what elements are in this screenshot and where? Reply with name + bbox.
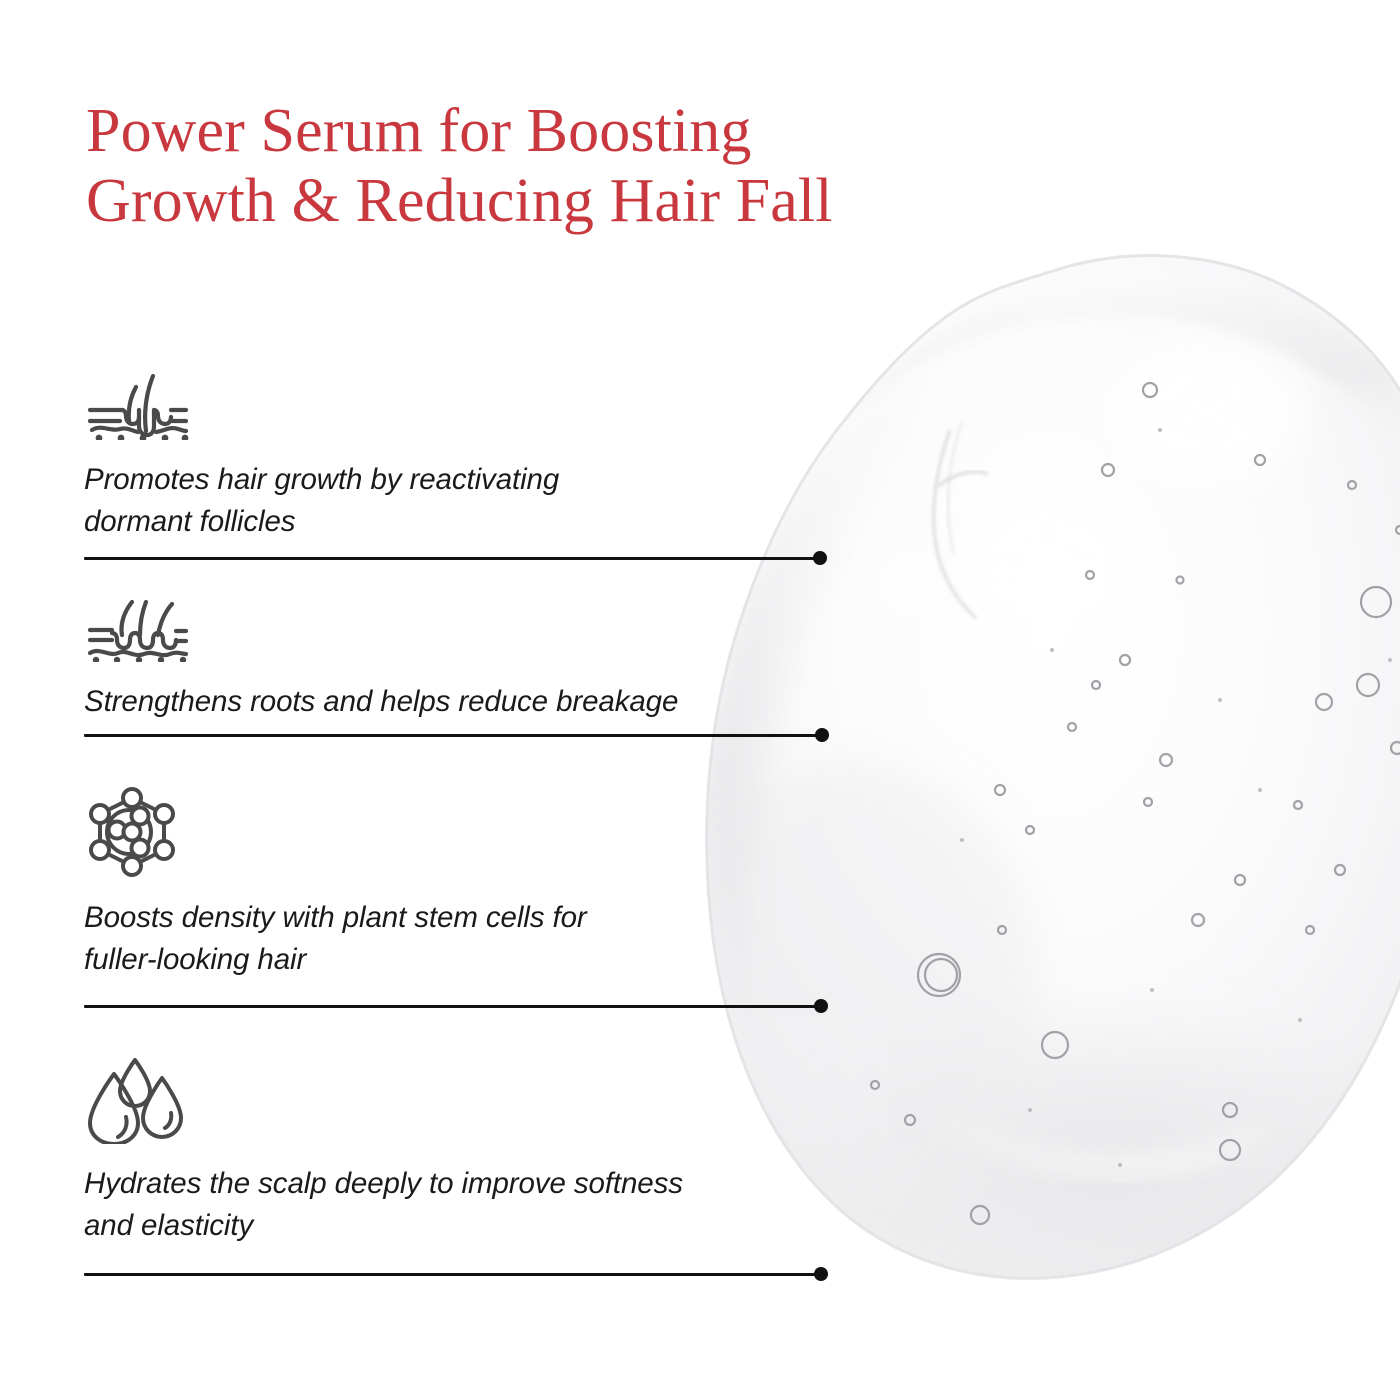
divider-endpoint-dot xyxy=(814,999,828,1013)
divider-bar xyxy=(84,734,822,737)
divider-bar xyxy=(84,1273,821,1276)
feature-item-plant-stem-cells: Boosts density with plant stem cells for… xyxy=(84,786,587,981)
feature-item-strengthens-roots: Strengthens roots and helps reduce break… xyxy=(84,600,678,723)
feature-divider xyxy=(84,733,822,737)
divider-endpoint-dot xyxy=(813,551,827,565)
feature-label: Promotes hair growth by reactivating dor… xyxy=(84,459,559,543)
stem-cell-molecule-icon xyxy=(84,786,587,883)
divider-endpoint-dot xyxy=(814,1267,828,1281)
divider-endpoint-dot xyxy=(815,728,829,742)
hair-follicle-multiple-icon xyxy=(84,600,678,667)
feature-label: Strengthens roots and helps reduce break… xyxy=(84,681,678,723)
divider-bar xyxy=(84,1005,821,1008)
product-infographic-page: Power Serum for Boosting Growth & Reduci… xyxy=(0,0,1400,1400)
feature-label: Hydrates the scalp deeply to improve sof… xyxy=(84,1163,683,1247)
feature-divider xyxy=(84,1272,821,1276)
feature-item-hair-growth: Promotes hair growth by reactivating dor… xyxy=(84,374,559,543)
feature-item-hydration: Hydrates the scalp deeply to improve sof… xyxy=(84,1056,683,1247)
page-title: Power Serum for Boosting Growth & Reduci… xyxy=(86,96,1086,236)
serum-gel-swatch xyxy=(700,230,1400,1330)
divider-bar xyxy=(84,557,820,560)
feature-label: Boosts density with plant stem cells for… xyxy=(84,897,587,981)
hair-follicle-single-icon xyxy=(84,374,559,445)
feature-divider xyxy=(84,1004,821,1008)
water-droplets-icon xyxy=(84,1056,683,1149)
feature-divider xyxy=(84,556,820,560)
